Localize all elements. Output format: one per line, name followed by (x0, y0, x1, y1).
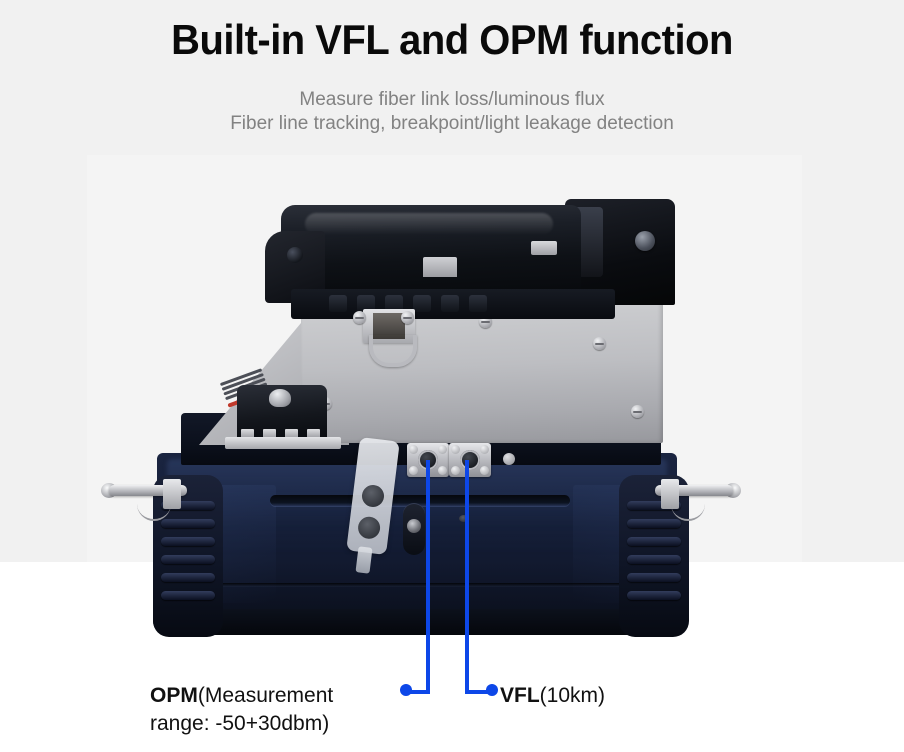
opm-leader-vertical (426, 460, 430, 694)
vfl-leader-dot (486, 684, 498, 696)
opm-label-name: OPM (150, 684, 198, 707)
vfl-label-detail: (10km) (540, 684, 605, 707)
callout-group (0, 0, 904, 752)
product-feature-banner: Built-in VFL and OPM function Measure fi… (0, 0, 904, 752)
opm-leader-dot (400, 684, 412, 696)
vfl-callout-label: VFL(10km) (500, 682, 700, 710)
opm-callout-label: OPM(Measurement range: -50+30dbm) (150, 682, 380, 738)
vfl-leader-vertical (465, 460, 469, 694)
vfl-label-name: VFL (500, 684, 540, 707)
